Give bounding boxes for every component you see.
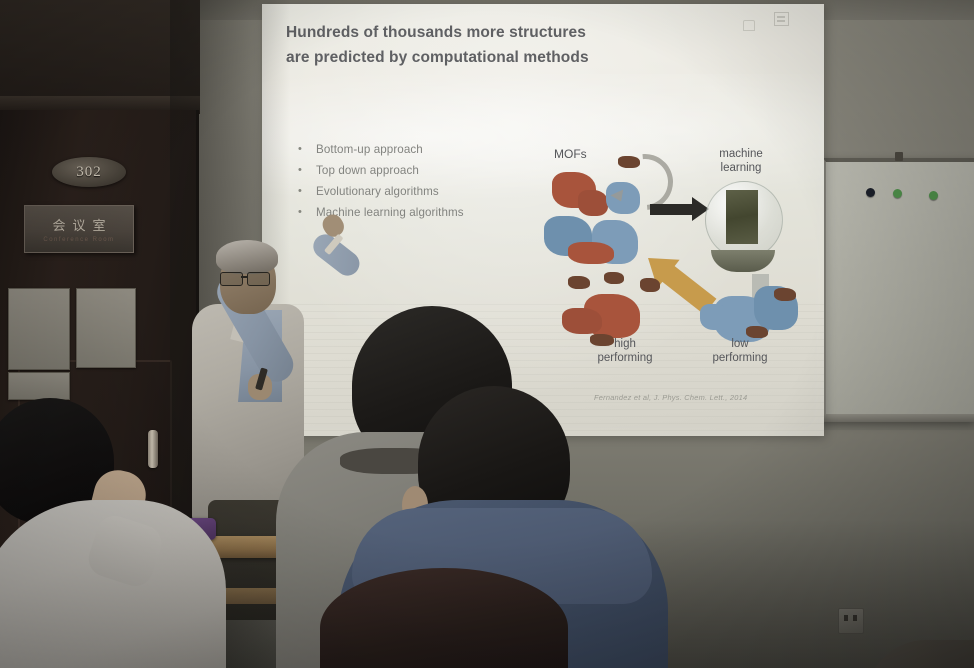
slide-bullet-item: • Top down approach: [298, 165, 528, 177]
mof-particle-brown-6: [774, 288, 796, 301]
slide-logo-mark-icon: [774, 12, 789, 26]
wall-notice-3: [8, 372, 70, 400]
bullet-dot-icon: •: [298, 165, 316, 176]
mof-structure-red-2: [578, 190, 608, 216]
slide-citation: Fernandez et al, J. Phys. Chem. Lett., 2…: [594, 393, 747, 402]
glasses-lens-left: [220, 272, 243, 286]
slide-title-line-1: Hundreds of thousands more structures: [286, 20, 686, 45]
bullet-dot-icon: •: [298, 186, 316, 197]
glasses-lens-right: [247, 272, 270, 286]
mof-structure-red-3: [568, 242, 614, 264]
whiteboard-tray: [823, 414, 974, 422]
slide-bullet-item: • Bottom-up approach: [298, 144, 528, 156]
mof-high-performing-2: [562, 308, 602, 334]
whiteboard-clip-icon: [895, 152, 903, 161]
slide-bullet-label: Bottom-up approach: [316, 144, 423, 156]
slide-bullet-label: Top down approach: [316, 165, 419, 177]
label-machine-learning-line-2: learning: [702, 161, 780, 175]
label-high-line-1: high: [580, 337, 670, 351]
flow-arrow-icon: [650, 204, 692, 215]
magnet-black-icon: [866, 188, 875, 197]
mof-particle-brown-3: [604, 272, 624, 284]
label-high-performing: high performing: [580, 337, 670, 366]
bullet-dot-icon: •: [298, 207, 316, 218]
label-machine-learning-line-1: machine: [702, 147, 780, 161]
label-mofs: MOFs: [554, 147, 587, 162]
slide-title: Hundreds of thousands more structures ar…: [286, 20, 686, 70]
label-machine-learning: machine learning: [702, 147, 780, 176]
conference-room-sign: 会议室 Conference Room: [24, 205, 134, 253]
door-handle[interactable]: [148, 430, 158, 468]
room-number-plate: 302: [52, 157, 126, 187]
wall-notice-1: [8, 288, 70, 370]
mof-particle-brown-5: [640, 278, 660, 292]
bullet-dot-icon: •: [298, 144, 316, 155]
sign-english-label: Conference Room: [43, 237, 114, 243]
sign-chinese-label: 会议室: [45, 215, 112, 234]
mof-particle-brown-2: [568, 276, 590, 289]
presenter-glasses-icon: [220, 272, 274, 284]
crystal-ball-base: [711, 250, 775, 272]
slide-corner-mark-icon: [743, 20, 755, 31]
slide-bullet-item: • Evolutionary algorithms: [298, 186, 528, 198]
slide-bullet-label: Evolutionary algorithms: [316, 186, 439, 198]
lecture-room-photo: 302 会议室 Conference Room Hundreds of thou…: [0, 0, 974, 668]
magnet-green-icon-1: [893, 189, 902, 198]
room-number-label: 302: [76, 164, 102, 181]
mof-low-performing-3: [700, 304, 730, 330]
slide-title-line-2: are predicted by computational methods: [286, 45, 686, 70]
wall-notice-2: [76, 288, 136, 368]
label-high-line-2: performing: [580, 351, 670, 365]
label-low-line-2: performing: [692, 351, 788, 365]
label-low-line-1: low: [692, 337, 788, 351]
crystal-ball-image: [726, 190, 758, 244]
presenter-hair: [216, 240, 278, 274]
label-low-performing: low performing: [692, 337, 788, 366]
magnet-green-icon-2: [929, 191, 938, 200]
